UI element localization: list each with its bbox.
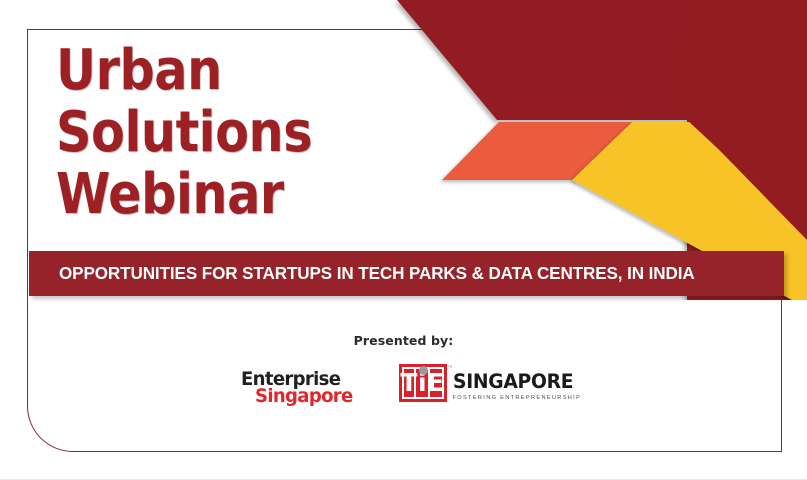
- tie-mark-dot-icon: [419, 366, 428, 375]
- presented-by-label: Presented by:: [0, 333, 807, 348]
- page-title-line-2: Solutions: [56, 102, 470, 164]
- subtitle-band-text: OPPORTUNITIES FOR STARTUPS IN TECH PARKS…: [59, 251, 749, 296]
- page-title-line-3: Webinar: [56, 164, 470, 226]
- tie-wordmark: SINGAPORE: [453, 372, 577, 392]
- page-title: Urban Solutions Webinar: [56, 40, 470, 226]
- webinar-poster: Urban Solutions Webinar OPPORTUNITIES FO…: [0, 0, 807, 480]
- page-title-line-1: Urban: [56, 40, 470, 102]
- tie-singapore-logo: TiE ™ SINGAPORE FOSTERING ENTREPRENEURSH…: [399, 364, 567, 410]
- tie-tagline: FOSTERING ENTREPRENEURSHIP: [453, 395, 582, 401]
- subtitle-band: OPPORTUNITIES FOR STARTUPS IN TECH PARKS…: [29, 251, 784, 296]
- sponsor-logos-row: Enterprise Singapore TiE ™ SINGAPORE FOS…: [0, 364, 807, 410]
- tie-logo-mark: TiE: [399, 364, 447, 402]
- enterprise-singapore-logo: Enterprise Singapore: [241, 364, 363, 410]
- tie-wordmark-group: SINGAPORE FOSTERING ENTREPRENEURSHIP: [453, 364, 582, 401]
- enterprise-singapore-line-2: Singapore: [255, 385, 353, 407]
